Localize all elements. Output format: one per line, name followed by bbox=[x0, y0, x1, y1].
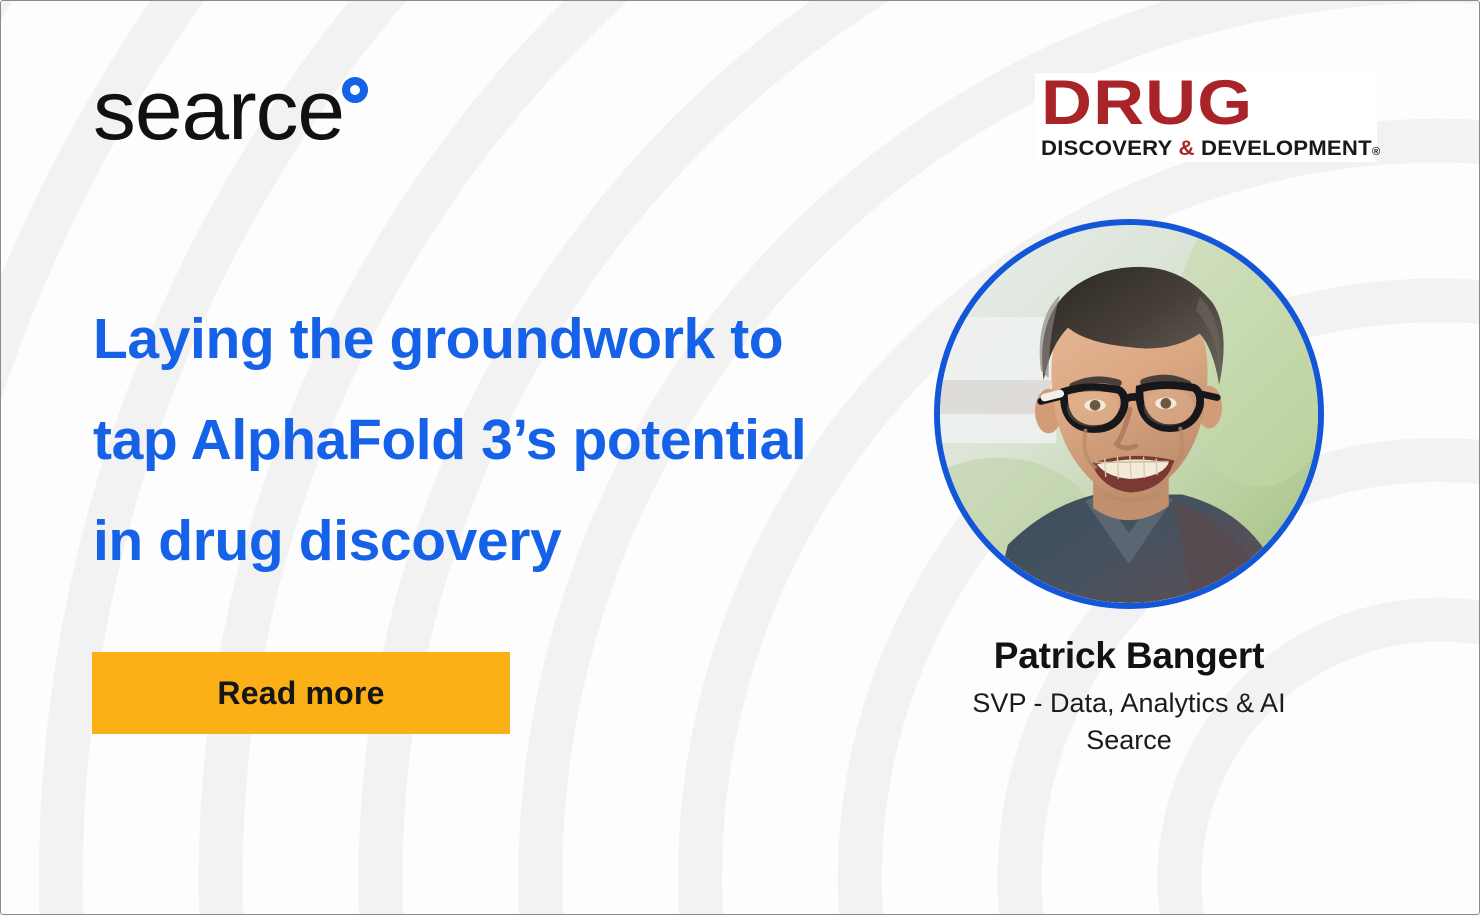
drug-discovery-development-logo[interactable]: DRUG DISCOVERY & DEVELOPMENT® bbox=[1035, 73, 1377, 162]
publication-subtitle-after: DEVELOPMENT bbox=[1195, 136, 1372, 160]
speaker-name: Patrick Bangert bbox=[904, 636, 1354, 677]
read-more-button[interactable]: Read more bbox=[92, 652, 510, 734]
speaker-card: Patrick Bangert SVP - Data, Analytics & … bbox=[904, 219, 1354, 759]
registered-mark-icon: ® bbox=[1372, 146, 1381, 158]
searce-logo[interactable]: searce bbox=[93, 75, 368, 146]
publication-subtitle-before: DISCOVERY bbox=[1041, 136, 1178, 160]
searce-wordmark: searce bbox=[93, 75, 344, 146]
read-more-label: Read more bbox=[217, 675, 384, 712]
headline-line-1: Laying the groundwork to bbox=[93, 289, 903, 390]
avatar bbox=[934, 219, 1324, 609]
publication-title: DRUG bbox=[1041, 75, 1410, 133]
speaker-role: SVP - Data, Analytics & AI bbox=[904, 685, 1354, 722]
speaker-company: Searce bbox=[904, 722, 1354, 759]
promo-banner: searce DRUG DISCOVERY & DEVELOPMENT® Lay… bbox=[0, 0, 1480, 915]
headline-line-3: in drug discovery bbox=[93, 491, 903, 592]
headline: Laying the groundwork to tap AlphaFold 3… bbox=[93, 289, 903, 592]
publication-subtitle: DISCOVERY & DEVELOPMENT® bbox=[1041, 138, 1380, 160]
searce-ring-icon bbox=[342, 77, 368, 103]
publication-subtitle-ampersand: & bbox=[1179, 136, 1195, 160]
speaker-photo bbox=[940, 225, 1318, 603]
headline-line-2: tap AlphaFold 3’s potential bbox=[93, 390, 903, 491]
